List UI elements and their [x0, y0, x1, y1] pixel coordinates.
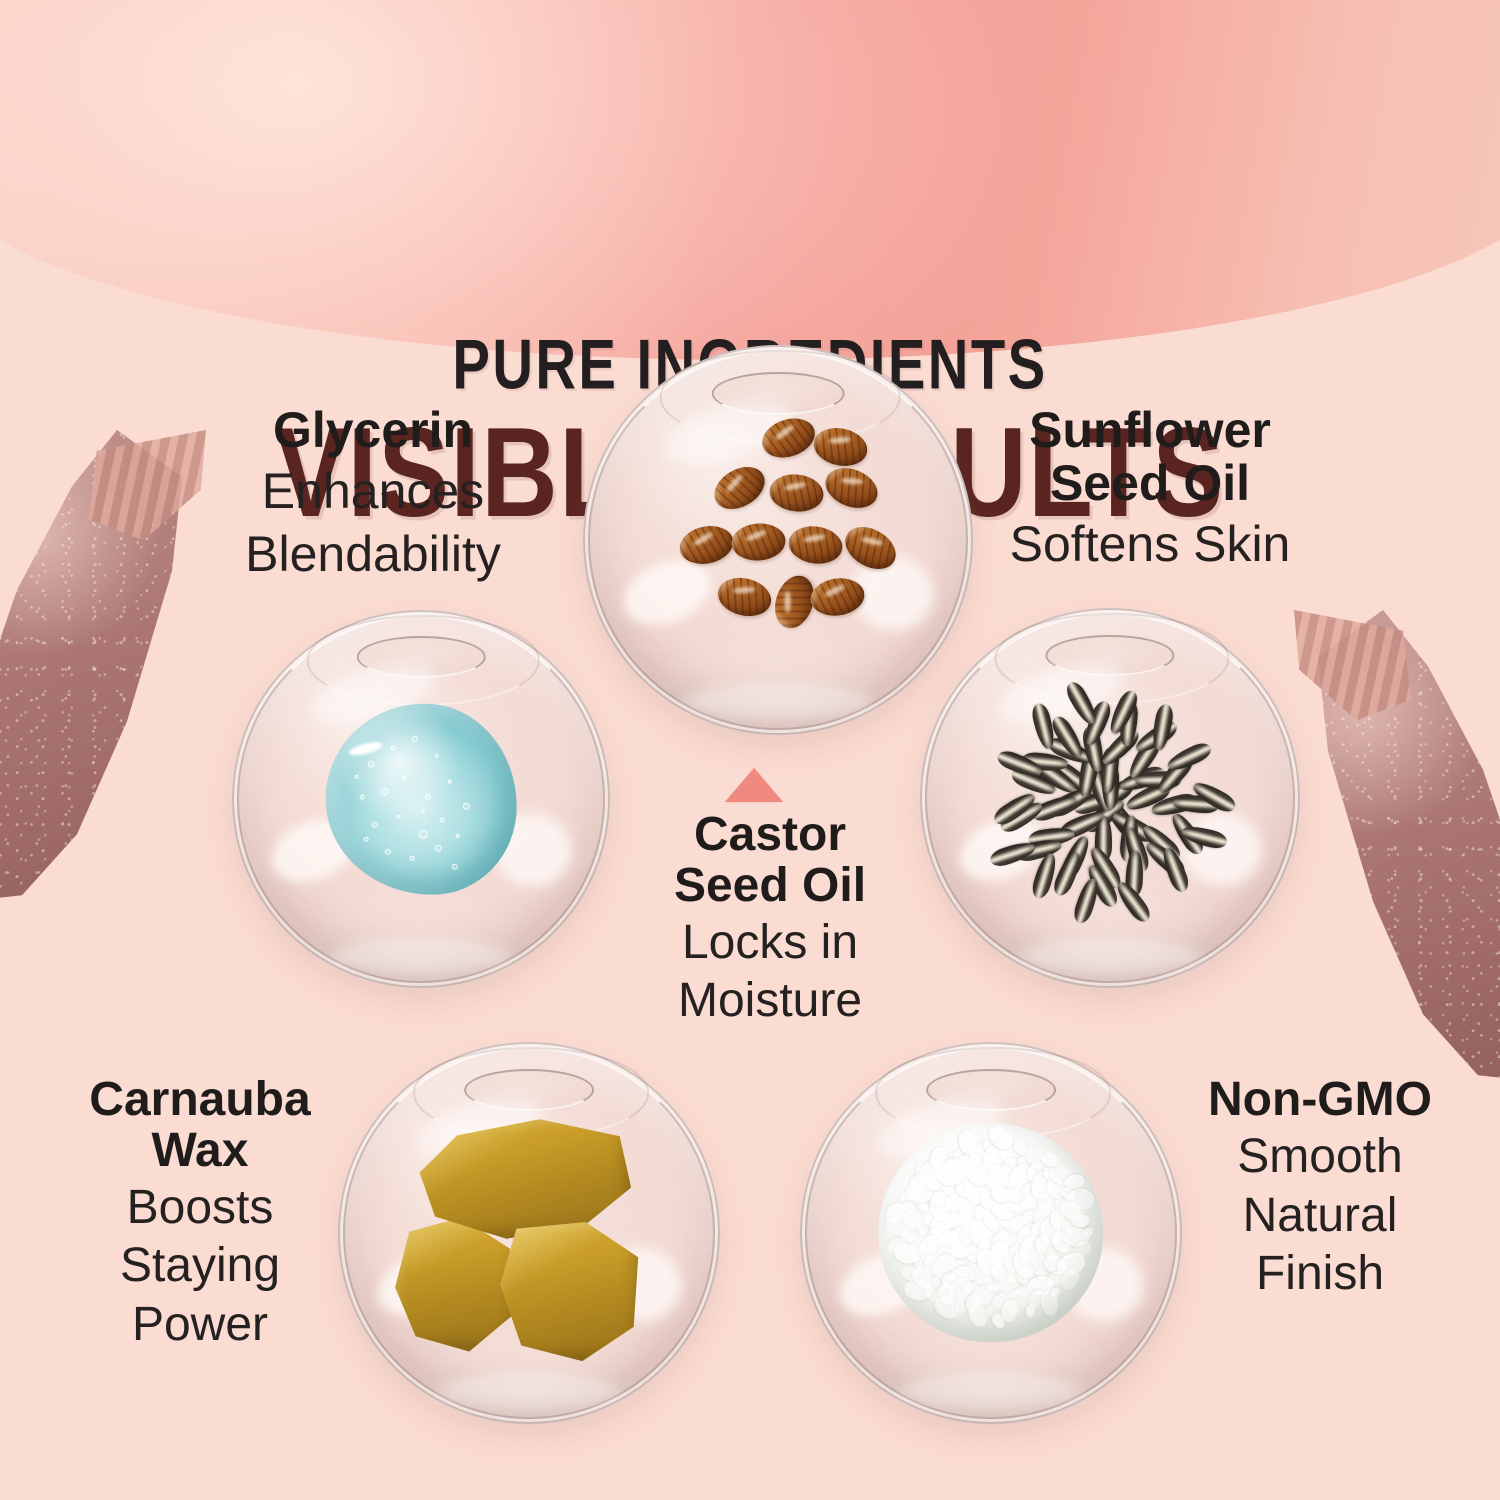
castor-seed — [810, 423, 871, 470]
castor-seed — [819, 460, 883, 515]
ingredient-name-line-1: Non-GMO — [1160, 1075, 1480, 1126]
sphere-highlight-bottom — [684, 684, 871, 719]
sunflower-seed — [1071, 877, 1102, 926]
ingredient-name-line-2: Seed Oil — [930, 457, 1370, 510]
castor-seed — [714, 572, 775, 621]
header-banner — [0, 0, 1500, 360]
carnauba-wax-chunks — [395, 1099, 662, 1366]
castor-seed — [838, 518, 903, 577]
ingredient-name: Glycerin — [158, 404, 588, 457]
ingredient-label-sunflower: Sunflower Seed Oil Softens Skin — [930, 404, 1370, 573]
ingredient-name-line-1: Sunflower — [930, 404, 1370, 457]
gel-bubble — [448, 780, 452, 784]
ingredient-desc-line-2: Natural — [1160, 1189, 1480, 1244]
ingredient-name-line-1: Carnauba — [40, 1075, 360, 1126]
powder-granule — [1025, 1304, 1035, 1318]
ingredient-desc-line-1: Boosts — [40, 1181, 360, 1236]
ingredient-label-carnauba: Carnauba Wax Boosts Staying Power — [40, 1075, 360, 1353]
wax-chunk — [496, 1221, 643, 1363]
gel-bubble — [396, 814, 400, 818]
gel-bubble — [410, 856, 415, 861]
gel-bubble — [463, 803, 470, 810]
gel-bubble — [371, 822, 377, 828]
castor-seed — [676, 521, 737, 568]
castor-seed — [757, 412, 820, 464]
sunflower-seed — [1062, 679, 1099, 727]
gel-bubble — [440, 818, 445, 823]
gel-bubble — [451, 864, 457, 870]
glycerin-gel-container — [289, 667, 554, 932]
ingredient-label-glycerin: Glycerin Enhances Blendability — [158, 404, 588, 583]
sphere-highlight-bottom — [1019, 939, 1201, 973]
ingredient-desc-line-3: Finish — [1160, 1247, 1480, 1302]
gel-bubble — [364, 837, 369, 842]
gel-bubble — [434, 753, 438, 757]
white-powder-heap — [879, 1123, 1104, 1342]
gel-bubble — [455, 833, 459, 837]
castor-seed-cluster — [642, 404, 915, 677]
gel-bubble — [381, 788, 389, 796]
ingredient-label-castor: Castor Seed Oil Locks in Moisture — [615, 810, 925, 1029]
ingredient-sphere-nongmo — [800, 1042, 1182, 1424]
castor-seed — [768, 472, 826, 514]
ingredient-desc-line-1: Locks in — [615, 916, 925, 971]
gel-bubble — [419, 829, 428, 838]
ingredient-desc-line-2: Moisture — [615, 974, 925, 1029]
gel-bubble — [411, 736, 417, 742]
lipstick-swatch-right — [1288, 610, 1500, 1080]
ingredient-label-nongmo: Non-GMO Smooth Natural Finish — [1160, 1075, 1480, 1302]
ingredient-desc-line-1: Softens Skin — [930, 516, 1370, 573]
sunflower-seed — [1050, 849, 1084, 898]
ingredient-sphere-castor — [583, 345, 973, 735]
ingredient-sphere-carnauba — [338, 1042, 720, 1424]
ingredient-desc-line-3: Power — [40, 1298, 360, 1353]
ingredient-name-line-2: Seed Oil — [615, 861, 925, 912]
gel-bubble — [434, 845, 441, 852]
gel-bubble — [421, 809, 425, 813]
powder-granule — [1041, 1290, 1060, 1316]
sphere-highlight-bottom — [899, 1374, 1082, 1408]
castor-seed — [730, 522, 786, 563]
sphere-highlight-bottom — [330, 939, 511, 973]
gel-bubble — [354, 774, 358, 778]
powder-granule — [1065, 1188, 1096, 1211]
castor-seed — [707, 458, 772, 517]
sunflower-seed — [1159, 846, 1191, 895]
ingredient-name-line-1: Castor — [615, 810, 925, 861]
gel-specular-highlight — [348, 740, 383, 758]
ingredient-desc-line-1: Smooth — [1160, 1130, 1480, 1185]
powder-granule — [1071, 1213, 1090, 1227]
gel-bubble — [385, 849, 391, 855]
ingredient-desc-line-2: Staying — [40, 1239, 360, 1294]
ingredient-infographic: PURE INGREDIENTS VISIBLE RESULTS — [0, 0, 1500, 1500]
gel-bubble — [402, 776, 407, 781]
ingredient-sphere-glycerin — [232, 610, 610, 988]
powder-container — [857, 1099, 1124, 1366]
sunflower-seed — [988, 838, 1037, 869]
ingredient-desc-line-1: Enhances — [158, 463, 588, 520]
ingredient-desc-line-2: Blendability — [158, 526, 588, 583]
triangle-up-icon — [725, 768, 783, 802]
gel-bubble — [360, 795, 365, 800]
gel-bubble — [368, 761, 375, 768]
castor-seed — [787, 523, 846, 567]
sphere-highlight-bottom — [437, 1374, 620, 1408]
ingredient-name-line-2: Wax — [40, 1126, 360, 1177]
gel-bubble — [425, 793, 431, 799]
ingredient-sphere-sunflower — [920, 608, 1300, 988]
castor-seed — [808, 575, 867, 619]
glycerin-gel-blob — [326, 704, 517, 895]
gel-bubble — [391, 746, 396, 751]
sunflower-seed-pile — [977, 665, 1243, 931]
